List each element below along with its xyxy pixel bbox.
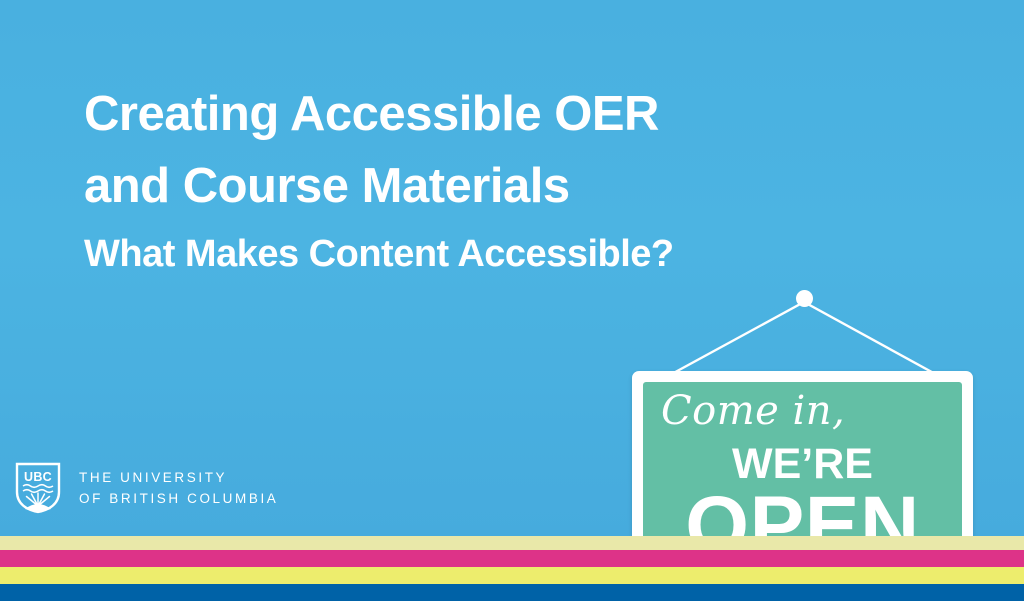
ubc-wordmark-line-1: THE UNIVERSITY xyxy=(79,467,278,488)
ubc-wordmark: THE UNIVERSITY OF BRITISH COLUMBIA xyxy=(79,467,278,509)
stripe-yellow xyxy=(0,567,1024,584)
stripe-pink xyxy=(0,550,1024,567)
slide-title-line-2: and Course Materials xyxy=(84,150,904,222)
svg-text:UBC: UBC xyxy=(24,470,52,484)
slide-title-line-1: Creating Accessible OER xyxy=(84,78,904,150)
ubc-logo: UBC THE UNIVERSITY OF BRITISH COLUMBIA xyxy=(15,462,278,514)
sign-script-text: Come in, xyxy=(661,388,845,434)
presentation-slide: Creating Accessible OER and Course Mater… xyxy=(0,0,1024,601)
stripe-cream xyxy=(0,536,1024,550)
ubc-wordmark-line-2: OF BRITISH COLUMBIA xyxy=(79,488,278,509)
ubc-shield-crest-icon: UBC xyxy=(15,462,61,514)
bottom-stripe-band xyxy=(0,536,1024,601)
sign-hook-knob-icon xyxy=(796,290,813,307)
stripe-navy xyxy=(0,584,1024,601)
slide-subtitle: What Makes Content Accessible? xyxy=(84,222,904,286)
slide-title-block: Creating Accessible OER and Course Mater… xyxy=(84,78,904,286)
